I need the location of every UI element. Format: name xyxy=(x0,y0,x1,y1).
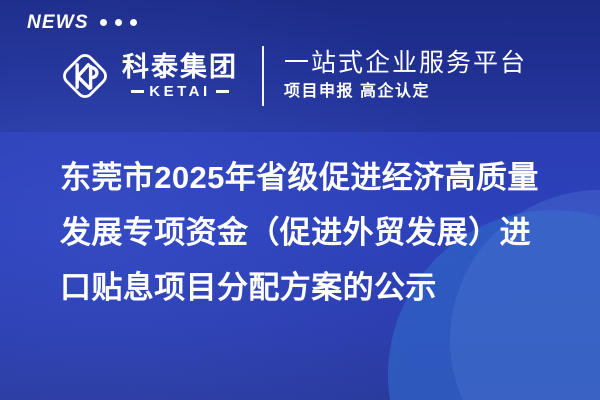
headline: 东莞市2025年省级促进经济高质量 发展专项资金（促进外贸发展）进 口贴息项目分… xyxy=(60,150,552,315)
brand-name-cn: 科泰集团 xyxy=(122,53,238,82)
news-kicker-dots xyxy=(100,19,137,26)
rule-right xyxy=(216,90,229,93)
header-divider xyxy=(262,46,264,106)
brand-logo: 科泰集团 KETAI xyxy=(57,48,238,104)
headline-line-3: 口贴息项目分配方案的公示 xyxy=(60,260,552,315)
banner-header: 科泰集团 KETAI 一站式企业服务平台 项目申报 高企认定 xyxy=(0,40,600,112)
headline-line-1: 东莞市2025年省级促进经济高质量 xyxy=(60,150,552,205)
dot-icon xyxy=(115,19,122,26)
news-kicker: NEWS xyxy=(27,13,137,32)
tagline-sub: 项目申报 高企认定 xyxy=(284,82,527,103)
news-kicker-label: NEWS xyxy=(27,13,89,32)
news-banner: NEWS 科泰集团 xyxy=(0,0,600,400)
tagline: 一站式企业服务平台 项目申报 高企认定 xyxy=(284,49,527,102)
brand-wordmark: 科泰集团 KETAI xyxy=(122,53,238,98)
brand-name-en: KETAI xyxy=(149,84,210,99)
brand-name-en-row: KETAI xyxy=(131,84,228,99)
rule-left xyxy=(131,90,144,93)
ketai-diamond-monogram-icon xyxy=(57,48,113,104)
dot-icon xyxy=(100,19,107,26)
tagline-main: 一站式企业服务平台 xyxy=(284,49,527,79)
dot-icon xyxy=(130,19,137,26)
headline-line-2: 发展专项资金（促进外贸发展）进 xyxy=(60,205,552,260)
